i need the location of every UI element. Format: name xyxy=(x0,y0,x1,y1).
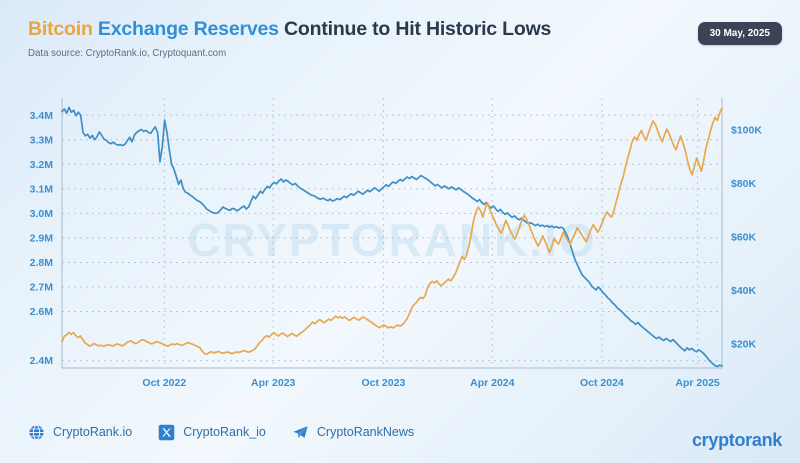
title-part-rest: Continue to Hit Historic Lows xyxy=(284,18,551,40)
footer: CryptoRank.io CryptoRank_io CryptoRankNe… xyxy=(28,415,780,449)
y-axis-left-tick: 2.6M xyxy=(30,306,54,318)
social-label-telegram: CryptoRankNews xyxy=(317,425,414,439)
x-axis-tick: Apr 2025 xyxy=(675,377,720,389)
title-part-exchange-reserves: Exchange Reserves xyxy=(98,18,279,40)
y-axis-left-tick: 2.9M xyxy=(30,233,54,245)
social-link-website[interactable]: CryptoRank.io xyxy=(28,424,132,441)
y-axis-left-tick: 3.0M xyxy=(30,208,54,220)
x-axis-tick: Oct 2022 xyxy=(142,377,186,389)
y-axis-right-tick: $80K xyxy=(731,178,757,190)
y-axis-right-tick: $20K xyxy=(731,339,757,351)
x-axis-tick: Oct 2024 xyxy=(580,377,624,389)
social-label-website: CryptoRank.io xyxy=(53,425,132,439)
y-axis-left-tick: 3.4M xyxy=(30,110,54,122)
social-link-telegram[interactable]: CryptoRankNews xyxy=(292,424,414,441)
y-axis-left-tick: 3.3M xyxy=(30,134,54,146)
x-twitter-icon xyxy=(158,424,175,441)
y-axis-left-tick: 2.8M xyxy=(30,257,54,269)
social-label-x: CryptoRank_io xyxy=(183,425,266,439)
social-links: CryptoRank.io CryptoRank_io CryptoRankNe… xyxy=(28,415,780,449)
date-badge: 30 May, 2025 xyxy=(698,22,782,45)
page-title: Bitcoin Exchange Reserves Continue to Hi… xyxy=(28,18,780,41)
chart-page: Bitcoin Exchange Reserves Continue to Hi… xyxy=(0,0,800,463)
chart-container: CRYPTORANK.IO3.4M3.3M3.2M3.1M3.0M2.9M2.8… xyxy=(0,86,800,401)
y-axis-left-tick: 3.2M xyxy=(30,159,54,171)
header: Bitcoin Exchange Reserves Continue to Hi… xyxy=(28,18,780,76)
line-chart: CRYPTORANK.IO3.4M3.3M3.2M3.1M3.0M2.9M2.8… xyxy=(0,86,800,401)
x-axis-tick: Apr 2023 xyxy=(251,377,296,389)
y-axis-right-tick: $40K xyxy=(731,285,757,297)
y-axis-left-tick: 2.4M xyxy=(30,355,54,367)
telegram-icon xyxy=(292,424,309,441)
cryptorank-logo: cryptorank xyxy=(692,430,782,451)
title-part-bitcoin: Bitcoin xyxy=(28,18,93,40)
y-axis-left-tick: 3.1M xyxy=(30,183,54,195)
globe-icon xyxy=(28,424,45,441)
y-axis-right-tick: $60K xyxy=(731,232,757,244)
y-axis-right-tick: $100K xyxy=(731,125,762,137)
y-axis-left-tick: 2.7M xyxy=(30,282,54,294)
data-source-subtitle: Data source: CryptoRank.io, Cryptoquant.… xyxy=(28,48,780,59)
x-axis-tick: Oct 2023 xyxy=(362,377,406,389)
x-axis-tick: Apr 2024 xyxy=(470,377,515,389)
social-link-x[interactable]: CryptoRank_io xyxy=(158,424,266,441)
